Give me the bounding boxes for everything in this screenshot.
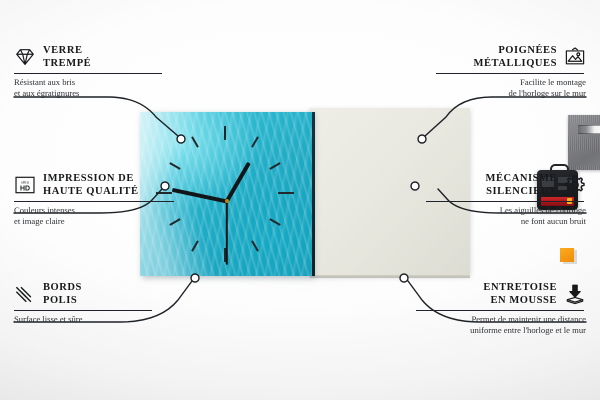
callout-title: MÉCANISME SILENCIEUX (486, 172, 557, 198)
callout-title: IMPRESSION DE HAUTE QUALITÉ (43, 172, 139, 198)
callout-subtitle: Résistant aux bris et aux égratignures (14, 77, 164, 98)
callout-header: MÉCANISME SILENCIEUX (426, 172, 586, 198)
foam-spacer (560, 248, 574, 262)
callout-header: BORDS POLIS (14, 281, 154, 307)
callout-bords-polis: BORDS POLIS Surface lisse et sûre (14, 281, 154, 325)
callout-entretoise-mousse: ENTRETOISE EN MOUSSE Permet de maintenir… (416, 281, 586, 335)
callout-rule (14, 310, 152, 311)
callout-title: VERRE TREMPÉ (43, 44, 91, 70)
svg-text:ultra: ultra (21, 181, 29, 185)
callout-header: ultra HD IMPRESSION DE HAUTE QUALITÉ (14, 172, 176, 198)
tick-2 (269, 162, 280, 170)
callout-subtitle: Les aiguilles de l'horloge ne font aucun… (426, 205, 586, 226)
product-image (140, 108, 470, 280)
callout-rule (426, 201, 584, 202)
callout-title: POIGNÉES MÉTALLIQUES (474, 44, 557, 70)
tick-12 (224, 126, 226, 140)
callout-subtitle: Facilite le montage de l'horloge sur le … (436, 77, 586, 98)
ultra-hd-icon: ultra HD (14, 174, 36, 196)
picture-hanger-icon (564, 46, 586, 68)
callout-poignees-metalliques: POIGNÉES MÉTALLIQUES Facilite le montage… (436, 44, 586, 98)
tick-1 (251, 136, 259, 147)
gear-icon (564, 174, 586, 196)
tick-7 (191, 240, 199, 251)
tick-3 (278, 192, 294, 194)
metal-hanger-plate (568, 115, 600, 170)
callout-mecanisme-silencieux: MÉCANISME SILENCIEUX Les aiguilles de l'… (426, 172, 586, 226)
polished-edges-icon (14, 283, 36, 305)
callout-header: ENTRETOISE EN MOUSSE (416, 281, 586, 307)
tick-10 (169, 162, 180, 170)
callout-rule (14, 73, 162, 74)
diamond-icon (14, 46, 36, 68)
callout-subtitle: Couleurs intenses et image claire (14, 205, 176, 226)
tick-4 (269, 218, 280, 226)
callout-subtitle: Surface lisse et sûre (14, 314, 154, 325)
callout-rule (436, 73, 584, 74)
infographic-canvas: VERRE TREMPÉ Résistant aux bris et aux é… (0, 0, 600, 400)
minute-hand (172, 188, 228, 203)
callout-subtitle: Permet de maintenir une distance uniform… (416, 314, 586, 335)
foam-spacer-arrow-icon (564, 283, 586, 305)
callout-impression-hd: ultra HD IMPRESSION DE HAUTE QUALITÉ Cou… (14, 172, 176, 226)
hour-hand (225, 162, 250, 202)
tick-5 (251, 240, 259, 251)
callout-header: VERRE TREMPÉ (14, 44, 164, 70)
tick-11 (191, 136, 199, 147)
hanger-slot (577, 125, 600, 134)
second-hand (226, 201, 228, 265)
hands-pin (225, 199, 229, 203)
svg-text:HD: HD (20, 186, 30, 193)
callout-rule (14, 201, 174, 202)
callout-title: ENTRETOISE EN MOUSSE (483, 281, 557, 307)
callout-verre-trempe: VERRE TREMPÉ Résistant aux bris et aux é… (14, 44, 164, 98)
callout-title: BORDS POLIS (43, 281, 82, 307)
callout-rule (416, 310, 584, 311)
callout-header: POIGNÉES MÉTALLIQUES (436, 44, 586, 70)
